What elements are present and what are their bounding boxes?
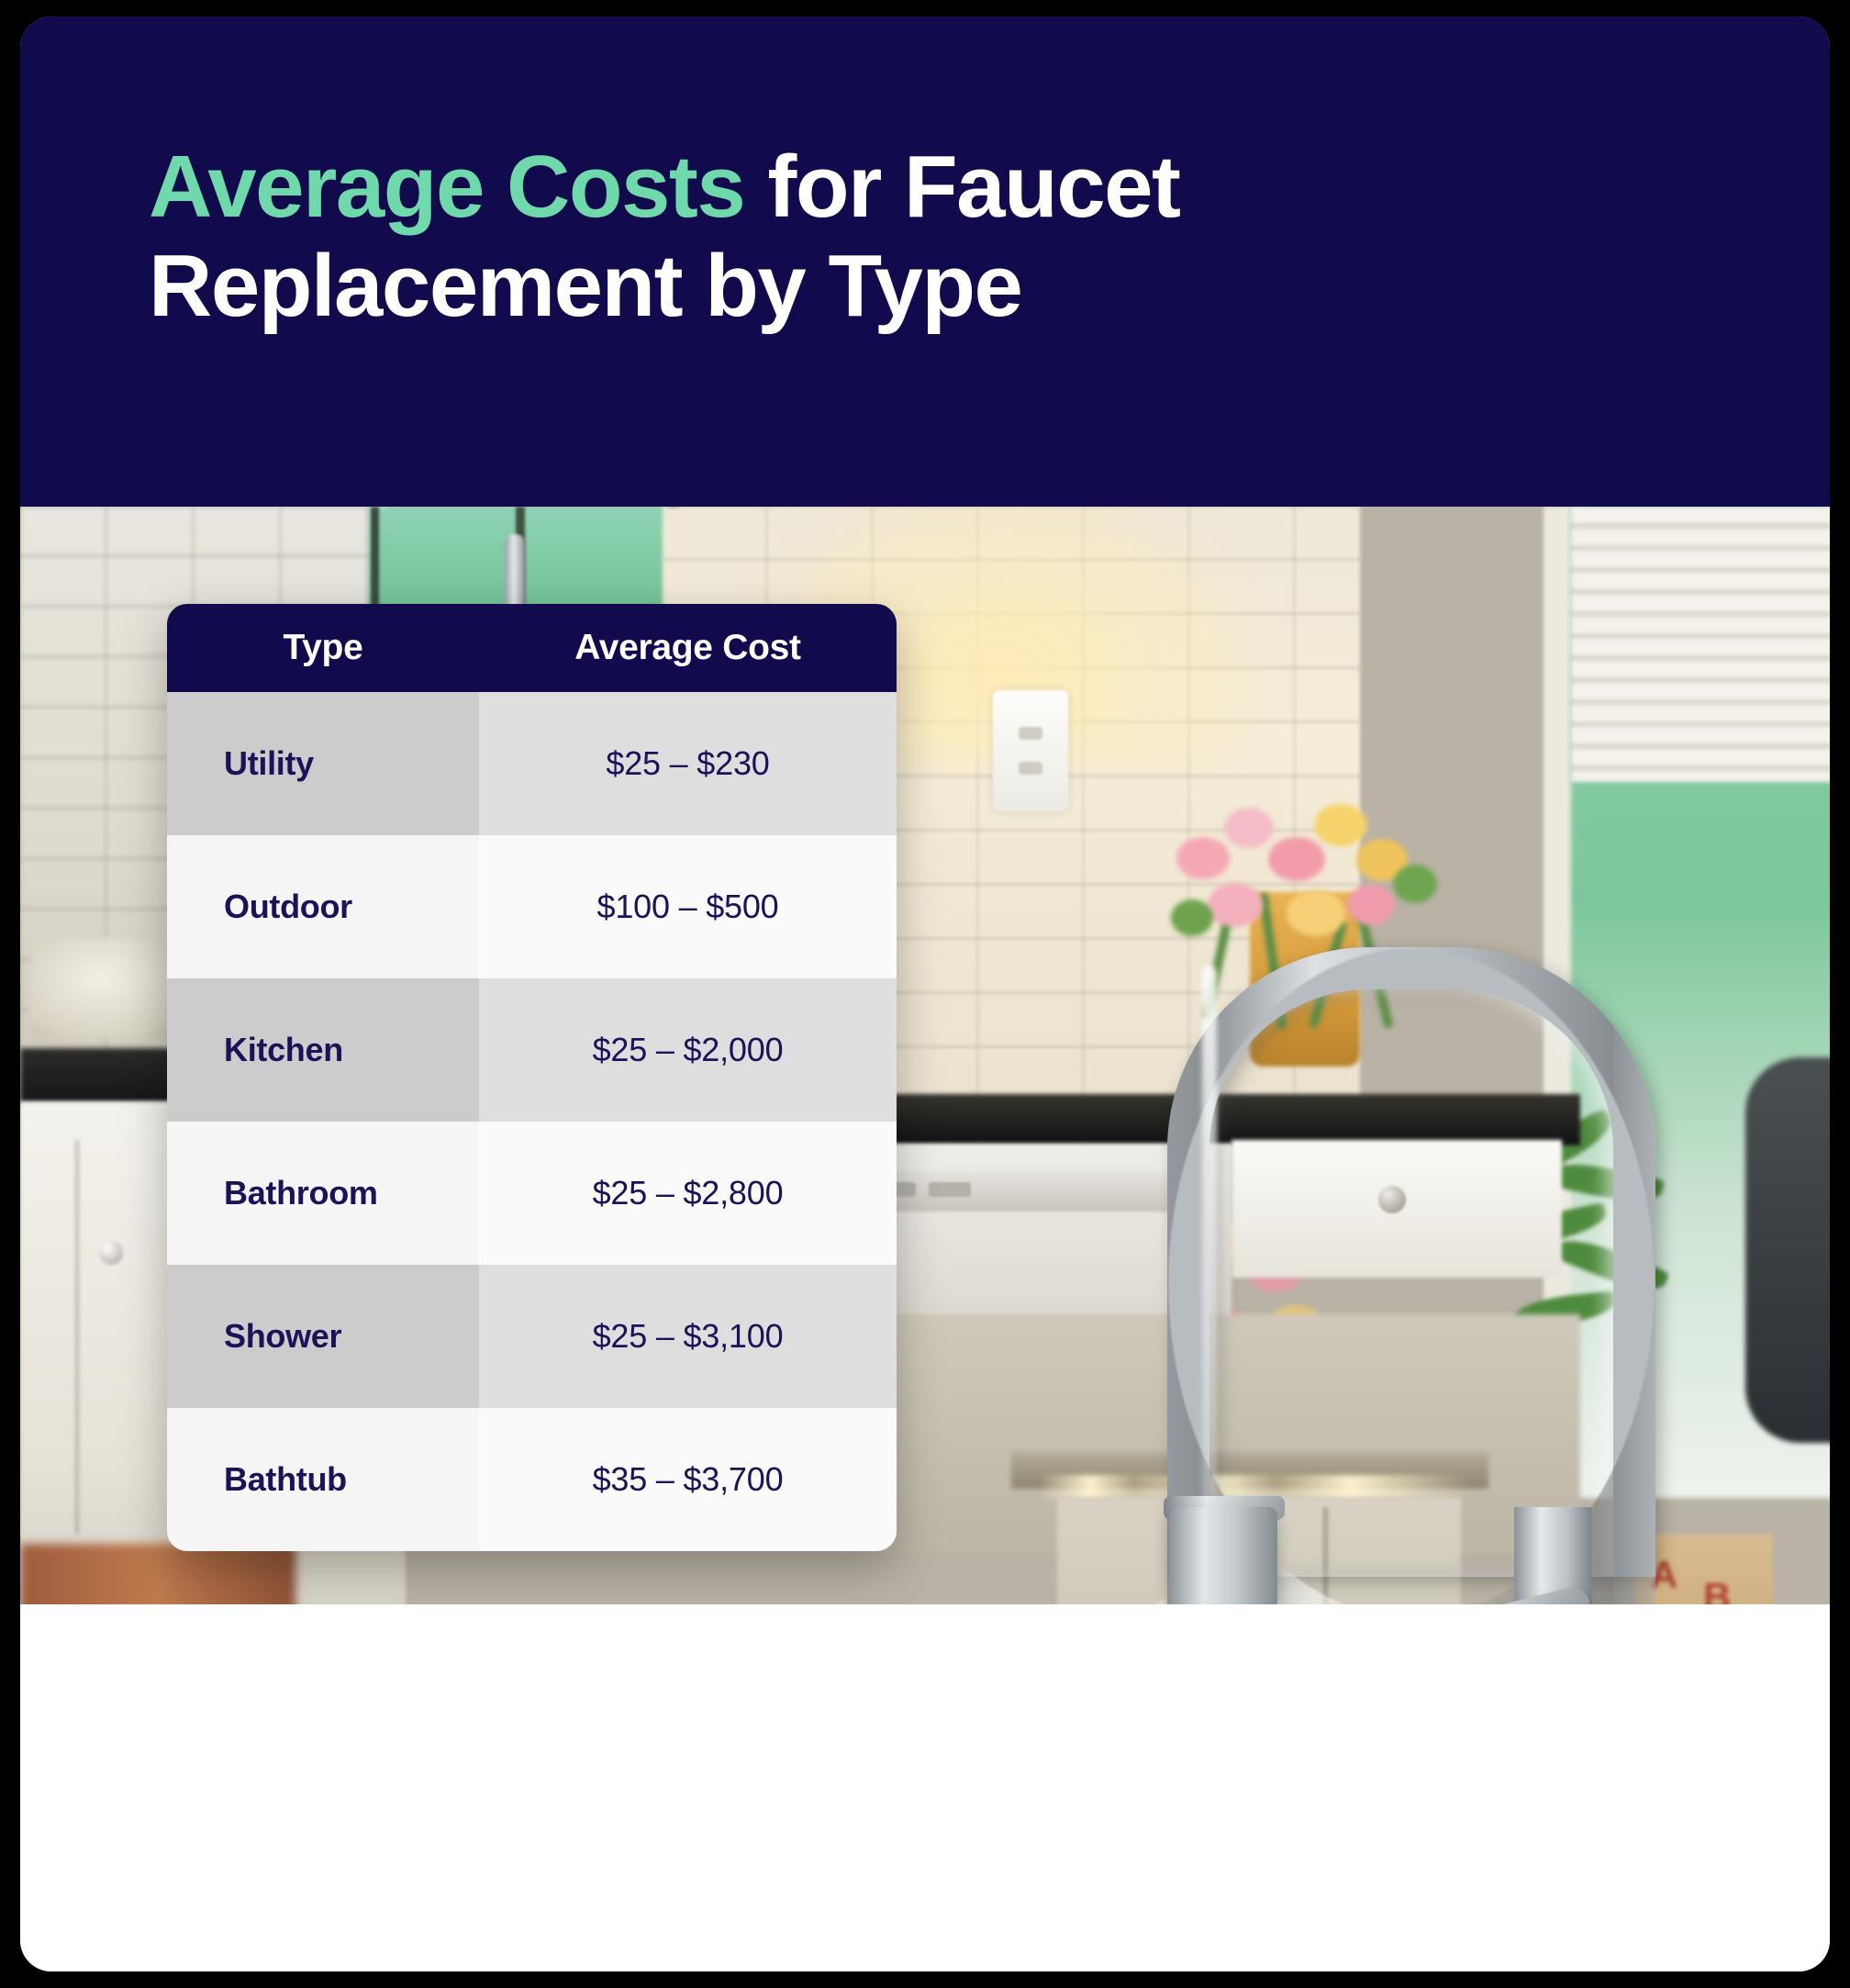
cell-cost: $25 – $2,800 <box>479 1122 897 1265</box>
table-row: Outdoor $100 – $500 <box>167 835 897 978</box>
cell-cost: $100 – $500 <box>479 835 897 978</box>
infographic-card: Average Costs for Faucet Replacement by … <box>20 17 1830 1971</box>
cell-type: Shower <box>167 1265 479 1408</box>
title-highlight: Average Costs <box>149 138 744 236</box>
cell-type: Outdoor <box>167 835 479 978</box>
cell-type: Bathroom <box>167 1122 479 1265</box>
column-header-average-cost: Average Cost <box>479 604 897 692</box>
cell-type: Kitchen <box>167 978 479 1122</box>
photo-window-blinds <box>1571 507 1830 782</box>
photo-basket <box>29 938 185 1039</box>
page-title: Average Costs for Faucet Replacement by … <box>149 138 1544 335</box>
cell-type: Bathtub <box>167 1408 479 1551</box>
cell-type: Utility <box>167 692 479 835</box>
faucet-arc <box>1167 947 1655 1577</box>
photo-chair <box>1745 1057 1830 1443</box>
table-row: Shower $25 – $3,100 <box>167 1265 897 1408</box>
table-row: Utility $25 – $230 <box>167 692 897 835</box>
header-banner: Average Costs for Faucet Replacement by … <box>20 17 1830 507</box>
cell-cost: $25 – $2,000 <box>479 978 897 1122</box>
photo-decor-box: ABC <box>1635 1535 1773 1604</box>
photo-wall-outlet <box>993 690 1068 811</box>
column-header-type: Type <box>167 604 479 692</box>
footer: *Data based on research by HomeAdvisor. … <box>20 1604 1830 1971</box>
table-row: Bathroom $25 – $2,800 <box>167 1122 897 1265</box>
cell-cost: $35 – $3,700 <box>479 1408 897 1551</box>
photo-floor-rug <box>20 1544 295 1604</box>
photo-cabinet-knob <box>99 1241 123 1265</box>
table-row: Bathtub $35 – $3,700 <box>167 1408 897 1551</box>
table-header-row: Type Average Cost <box>167 604 897 692</box>
cost-table: Type Average Cost Utility $25 – $230 Out… <box>167 604 897 1551</box>
cell-cost: $25 – $3,100 <box>479 1265 897 1408</box>
photo-cabinet-seam <box>75 1140 79 1535</box>
faucet-highlight <box>1202 966 1217 1516</box>
table-row: Kitchen $25 – $2,000 <box>167 978 897 1122</box>
photo-dishwasher-button-4 <box>929 1182 971 1197</box>
cell-cost: $25 – $230 <box>479 692 897 835</box>
faucet-spout <box>1169 1507 1277 1604</box>
